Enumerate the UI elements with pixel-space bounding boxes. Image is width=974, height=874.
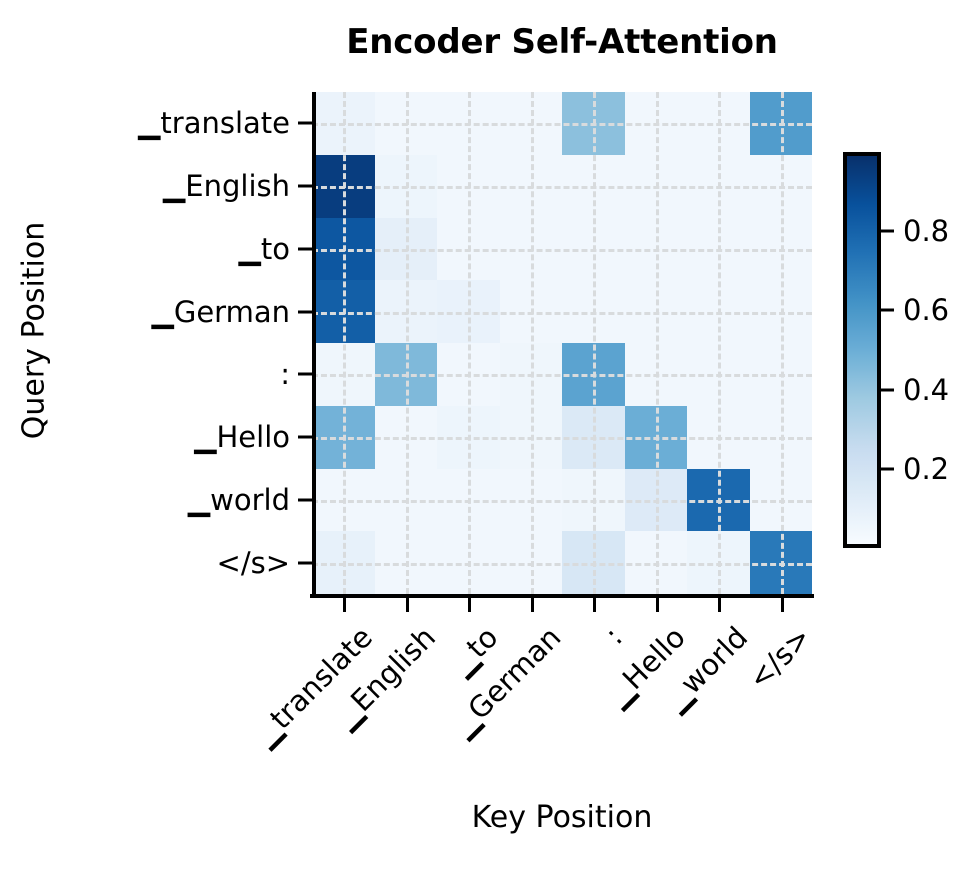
- heatmap-cell: [625, 92, 688, 155]
- y-tick-mark: [298, 185, 312, 188]
- heatmap-cell: [562, 92, 625, 155]
- heatmap-cell: [750, 343, 813, 406]
- heatmap-cell: [562, 280, 625, 343]
- heatmap-cell: [312, 343, 375, 406]
- heatmap-cell: [375, 155, 438, 218]
- heatmap-cell: [437, 280, 500, 343]
- colorbar-tick-label: 0.6: [903, 293, 949, 327]
- heatmap-cell: [750, 280, 813, 343]
- y-tick-label: ▁Hello: [60, 420, 290, 454]
- heatmap-cell: [625, 531, 688, 594]
- heatmap-cell: [437, 343, 500, 406]
- x-tick-mark: [406, 598, 409, 612]
- y-tick-label: ▁German: [60, 295, 290, 329]
- x-tick-label: </s>: [741, 620, 817, 696]
- heatmap-cell: [375, 92, 438, 155]
- heatmap-cell: [625, 218, 688, 281]
- y-tick-mark: [298, 122, 312, 125]
- heatmap-cell: [750, 218, 813, 281]
- heatmap-cell: [750, 469, 813, 532]
- heatmap-cell: [562, 155, 625, 218]
- y-tick-mark: [298, 373, 312, 376]
- heatmap-cell: [375, 469, 438, 532]
- heatmap-cell: [312, 155, 375, 218]
- y-tick-mark: [298, 310, 312, 313]
- heatmap-cell: [375, 280, 438, 343]
- y-axis-label: Query Position: [17, 181, 52, 481]
- colorbar-tick-mark: [881, 230, 894, 233]
- y-tick-label: ▁to: [60, 232, 290, 266]
- heatmap-cell: [312, 218, 375, 281]
- heatmap-cell: [562, 343, 625, 406]
- heatmap-cell: [312, 280, 375, 343]
- heatmap-cell: [687, 218, 750, 281]
- heatmap-cell: [500, 531, 563, 594]
- colorbar-tick-label: 0.4: [903, 373, 949, 407]
- y-tick-label: ▁translate: [60, 106, 290, 140]
- colorbar-tick-mark: [881, 467, 894, 470]
- heatmap-cell: [500, 280, 563, 343]
- heatmap-cell: [562, 469, 625, 532]
- axis-spine-left: [312, 92, 316, 598]
- y-tick-label: :: [60, 357, 290, 391]
- heatmap-cell: [500, 469, 563, 532]
- y-tick-mark: [298, 247, 312, 250]
- x-tick-label: :: [598, 620, 629, 651]
- axis-spine-bottom: [310, 594, 814, 598]
- heatmap-cell: [312, 531, 375, 594]
- heatmap-cell: [562, 531, 625, 594]
- heatmap-cell: [687, 343, 750, 406]
- heatmap-cell: [562, 218, 625, 281]
- heatmap-cell-grid: [312, 92, 812, 594]
- heatmap-cell: [562, 406, 625, 469]
- heatmap-cell: [500, 92, 563, 155]
- heatmap-cell: [437, 406, 500, 469]
- y-tick-label: ▁English: [60, 169, 290, 203]
- heatmap-cell: [312, 406, 375, 469]
- colorbar-frame: [843, 152, 881, 548]
- heatmap-cell: [437, 531, 500, 594]
- heatmap-cell: [687, 92, 750, 155]
- x-tick-mark: [468, 598, 471, 612]
- heatmap-cell: [750, 92, 813, 155]
- y-tick-mark: [298, 498, 312, 501]
- x-tick-mark: [718, 598, 721, 612]
- y-tick-label: </s>: [60, 546, 290, 580]
- heatmap-cell: [375, 218, 438, 281]
- heatmap-cell: [687, 531, 750, 594]
- colorbar-tick-mark: [881, 388, 894, 391]
- heatmap-cell: [375, 531, 438, 594]
- x-tick-mark: [343, 598, 346, 612]
- heatmap-cell: [500, 218, 563, 281]
- x-tick-mark: [531, 598, 534, 612]
- heatmap-cell: [437, 92, 500, 155]
- heatmap-cell: [437, 469, 500, 532]
- heatmap-cell: [437, 218, 500, 281]
- y-axis-tick-labels: ▁translate▁English▁to▁German:▁Hello▁worl…: [60, 92, 290, 594]
- heatmap-cell: [687, 280, 750, 343]
- heatmap-cell: [750, 155, 813, 218]
- y-tick-mark: [298, 436, 312, 439]
- heatmap-cell: [750, 406, 813, 469]
- heatmap-cell: [750, 531, 813, 594]
- heatmap-cell: [687, 406, 750, 469]
- y-tick-mark: [298, 561, 312, 564]
- heatmap-cell: [625, 155, 688, 218]
- heatmap-cell: [312, 469, 375, 532]
- heatmap-cell: [625, 469, 688, 532]
- page-title: Encoder Self-Attention: [312, 22, 812, 62]
- heatmap-cell: [312, 92, 375, 155]
- x-axis-label: Key Position: [312, 800, 812, 835]
- heatmap-cell: [687, 155, 750, 218]
- heatmap-plot-area: [312, 92, 812, 594]
- x-tick-mark: [593, 598, 596, 612]
- y-tick-label: ▁world: [60, 483, 290, 517]
- heatmap-cell: [500, 343, 563, 406]
- colorbar-tick-mark: [881, 309, 894, 312]
- heatmap-cell: [500, 155, 563, 218]
- colorbar-tick-label: 0.2: [903, 452, 949, 486]
- heatmap-cell: [687, 469, 750, 532]
- x-tick-mark: [781, 598, 784, 612]
- heatmap-cell: [375, 343, 438, 406]
- x-tick-mark: [656, 598, 659, 612]
- heatmap-cell: [375, 406, 438, 469]
- heatmap-cell: [437, 155, 500, 218]
- heatmap-cell: [625, 406, 688, 469]
- heatmap-cell: [625, 343, 688, 406]
- heatmap-cell: [625, 280, 688, 343]
- colorbar: [843, 152, 881, 548]
- colorbar-tick-label: 0.8: [903, 214, 949, 248]
- heatmap-cell: [500, 406, 563, 469]
